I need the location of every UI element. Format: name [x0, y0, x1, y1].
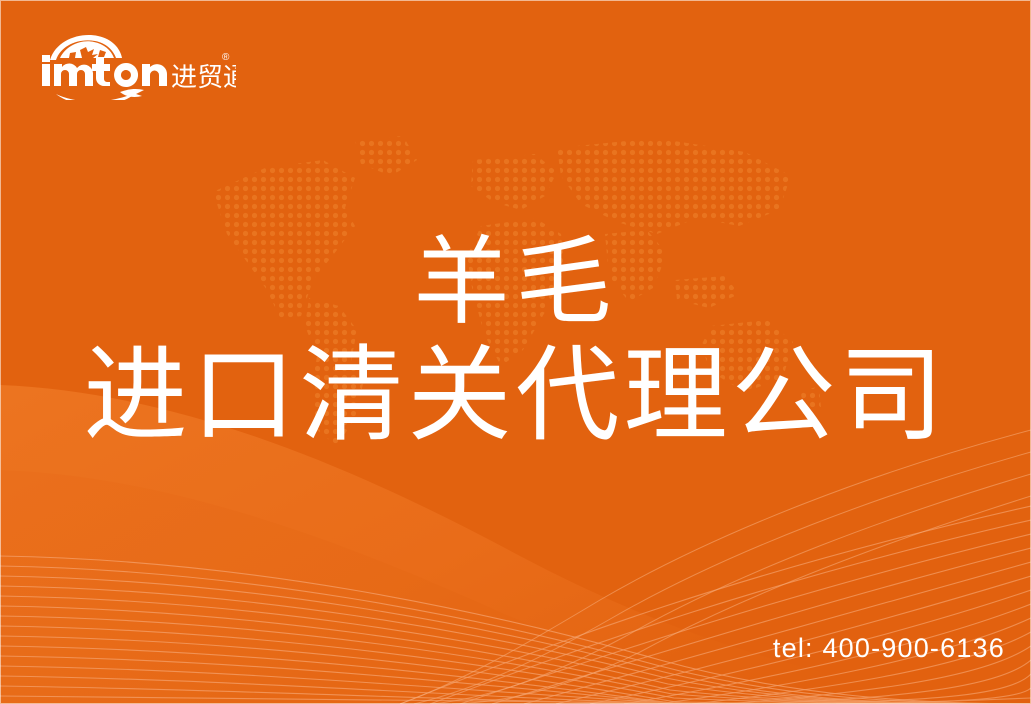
logo-brand-chinese: 进贸通 — [171, 62, 236, 92]
promotional-banner: 进贸通 ® 羊毛 进口清关代理公司 tel: 400-900-6136 — [0, 0, 1031, 704]
logo-trademark-symbol: ® — [222, 52, 230, 63]
headline-line-2: 进口清关代理公司 — [0, 338, 1031, 454]
headline-block: 羊毛 进口清关代理公司 — [0, 228, 1031, 454]
headline-line-1: 羊毛 — [0, 228, 1031, 338]
contact-phone: tel: 400-900-6136 — [773, 631, 1005, 665]
company-logo[interactable]: 进贸通 ® — [36, 28, 236, 100]
